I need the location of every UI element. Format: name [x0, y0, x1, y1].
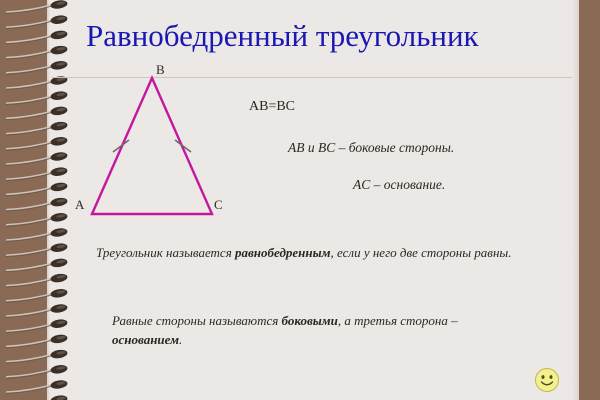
binder-left-panel — [0, 0, 47, 400]
vertex-label-b: B — [156, 63, 165, 76]
definition-paragraph-1: Треугольник называется равнобедренным, е… — [96, 243, 516, 262]
definition-p2-term-lateral: боковыми — [282, 313, 338, 328]
definition-paragraph-2: Равные стороны называются боковыми, а тр… — [112, 311, 524, 349]
page-title: Равнобедренный треугольник — [86, 16, 566, 56]
equation-ab-equals-bc: AB=BC — [249, 99, 295, 115]
smiley-face-icon — [534, 367, 560, 393]
definition-p1-text-end: , если у него две стороны равны. — [331, 245, 512, 260]
definition-p2-text-start: Равные стороны называются — [112, 313, 282, 328]
definition-p2-text-end: . — [179, 332, 182, 347]
equation-lateral-sides: AB и BC – боковые стороны. — [288, 140, 454, 156]
triangle-outline — [92, 78, 212, 214]
slide-canvas: Равнобедренный треугольник B A C AB=BC A… — [0, 0, 600, 400]
definition-p2-text-mid: , а третья сторона – — [338, 313, 458, 328]
paper-right-shadow — [572, 0, 579, 400]
definition-p1-text-start: Треугольник называется — [96, 245, 235, 260]
definition-p1-term: равнобедренным — [235, 245, 331, 260]
paper-left-edge — [47, 0, 50, 400]
vertex-label-c: C — [214, 198, 223, 211]
binder-right-panel — [579, 0, 600, 400]
definition-p2-term-base: основанием — [112, 332, 179, 347]
equation-base: AC – основание. — [353, 177, 445, 193]
vertex-label-a: A — [75, 198, 84, 211]
